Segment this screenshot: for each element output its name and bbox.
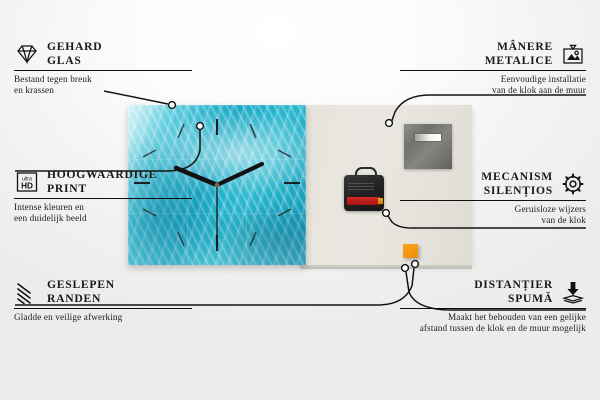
mechanism-body [344, 175, 384, 211]
divider [14, 198, 192, 199]
feature-description: Eenvoudige installatie van de klok aan d… [400, 74, 586, 97]
divider [14, 308, 192, 309]
ultra-hd-icon: ultra HD [14, 170, 40, 194]
slanted-lines-icon [14, 280, 40, 304]
down-arrow-stack-icon [560, 280, 586, 304]
mechanism-label [348, 183, 374, 192]
feature-gehard-glas: GEHARD GLAS Bestand tegen breuk en krass… [14, 40, 200, 97]
gear-icon [560, 172, 586, 196]
feature-title: HOOGWAARDIGE PRINT [47, 168, 157, 195]
feature-header: ultra HD HOOGWAARDIGE PRINT [14, 168, 200, 195]
divider [400, 70, 586, 71]
feature-header: GESLEPEN RANDEN [14, 278, 200, 305]
infographic-stage: GEHARD GLAS Bestand tegen breuk en krass… [0, 0, 600, 400]
feature-description: Intense kleuren en een duidelijk beeld [14, 202, 200, 225]
feature-header: MÂNERE METALICE [400, 40, 586, 67]
feature-distantier-spuma: DISTANȚIER SPUMĂ Maakt het behouden van … [400, 278, 586, 335]
feature-geslepen-randen: GESLEPEN RANDEN Gladde en veilige afwerk… [14, 278, 200, 323]
feature-header: DISTANȚIER SPUMĂ [400, 278, 586, 305]
picture-hook-icon [560, 42, 586, 66]
divider [400, 200, 586, 201]
feature-description: Geruisloze wijzers van de klok [400, 204, 586, 227]
clock-mechanism [344, 173, 384, 211]
minute-hand [217, 164, 262, 185]
feature-title: GEHARD GLAS [47, 40, 102, 67]
divider [14, 70, 192, 71]
hanger-texture [404, 124, 452, 169]
hand-pivot [215, 183, 220, 188]
hanger-slot [414, 133, 442, 142]
feature-title: MÂNERE METALICE [485, 40, 553, 67]
feature-hoogwaardige-print: ultra HD HOOGWAARDIGE PRINT Intense kleu… [14, 168, 200, 225]
battery [347, 197, 380, 205]
feature-title: DISTANȚIER SPUMĂ [474, 278, 553, 305]
feature-header: MECANISM SILENȚIOS [400, 170, 586, 197]
divider [400, 308, 586, 309]
feature-description: Bestand tegen breuk en krassen [14, 74, 200, 97]
feature-description: Gladde en veilige afwerking [14, 312, 200, 323]
feature-title: MECANISM SILENȚIOS [481, 170, 553, 197]
feature-header: GEHARD GLAS [14, 40, 200, 67]
feature-title: GESLEPEN RANDEN [47, 278, 115, 305]
svg-text:HD: HD [21, 181, 33, 190]
feature-manere-metalice: MÂNERE METALICE Eenvoudige installatie v… [400, 40, 586, 97]
feature-description: Maakt het behouden van een gelijke afsta… [400, 312, 586, 335]
feature-mecanism-silentios: MECANISM SILENȚIOS Geruisloze wijzers va… [400, 170, 586, 227]
metal-hanger [404, 124, 452, 169]
diamond-icon [14, 42, 40, 66]
foam-spacer [403, 244, 418, 258]
